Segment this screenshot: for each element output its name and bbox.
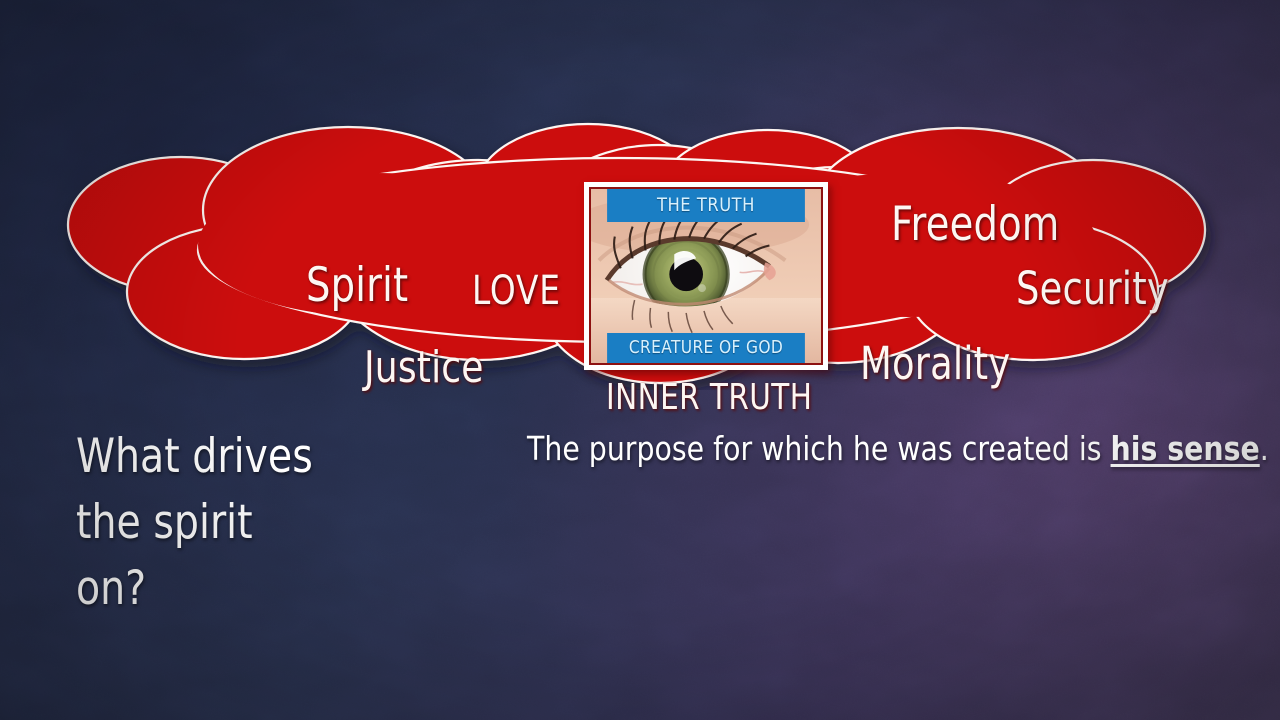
eye-image-card: THE TRUTH CREATURE OF GOD bbox=[584, 182, 828, 370]
statement-emphasis: his sense bbox=[1111, 429, 1260, 468]
cloud-word-justice: Justice bbox=[364, 342, 484, 393]
eye-card-frame: THE TRUTH CREATURE OF GOD bbox=[589, 187, 823, 365]
thought-cloud: Spirit LOVE Justice Freedom Security Mor… bbox=[48, 70, 1232, 390]
statement-text: The purpose for which he was created is … bbox=[527, 426, 1269, 471]
statement-prefix: The purpose for which he was created is bbox=[527, 429, 1111, 468]
banner-the-truth: THE TRUTH bbox=[607, 189, 805, 222]
question-text: What drives the spirit on? bbox=[76, 424, 429, 622]
cloud-word-freedom: Freedom bbox=[891, 197, 1060, 252]
cloud-word-security: Security bbox=[1016, 262, 1169, 315]
question-line-2: the spirit bbox=[76, 490, 429, 556]
cloud-caption-inner-truth: INNER TRUTH bbox=[606, 377, 812, 418]
cloud-word-spirit: Spirit bbox=[306, 258, 408, 313]
question-line-1: What drives bbox=[76, 424, 429, 490]
cloud-word-love: LOVE bbox=[472, 268, 561, 314]
question-line-3: on? bbox=[76, 556, 429, 622]
banner-creature-of-god: CREATURE OF GOD bbox=[607, 333, 805, 363]
slide-canvas: Spirit LOVE Justice Freedom Security Mor… bbox=[0, 0, 1280, 720]
cloud-word-morality: Morality bbox=[860, 337, 1010, 390]
statement-suffix: . bbox=[1260, 429, 1269, 468]
